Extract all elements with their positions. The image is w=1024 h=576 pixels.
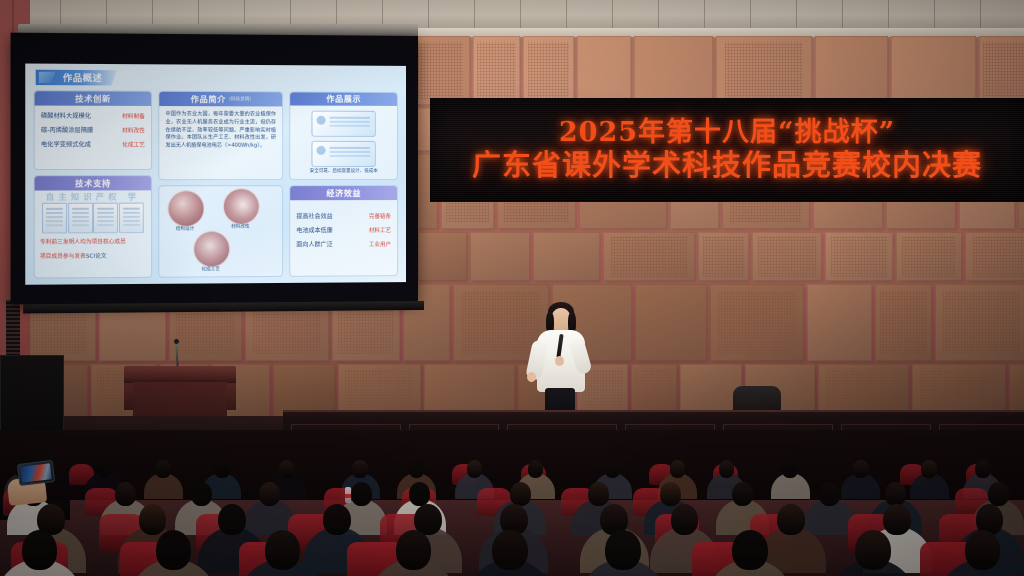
audience-head: [214, 460, 230, 478]
kv-row: 电池成本低廉 材料工艺: [296, 225, 391, 234]
audience-head: [351, 482, 372, 506]
document-thumbnails: 自主知识产权 学术论文: [40, 201, 146, 234]
ceiling-tile-line: [428, 0, 429, 30]
acoustic-panel: [710, 284, 804, 361]
acoustic-panel: [523, 36, 574, 105]
audience-head: [965, 530, 1000, 570]
water-bottle: [345, 487, 351, 503]
audience-head: [885, 482, 906, 506]
ceiling-tile-line: [658, 0, 659, 30]
card-process-photos: 结构设计 材料改性 化成工艺: [158, 185, 283, 278]
audience-head: [975, 460, 991, 478]
ceiling-tile-line: [888, 0, 889, 30]
audience-head: [22, 530, 57, 570]
product-shot: [311, 110, 375, 136]
audience-head: [588, 482, 609, 506]
kv-key: 电池成本低廉: [296, 225, 332, 234]
acoustic-panel: [935, 284, 1024, 361]
audience-head: [265, 530, 300, 570]
microphone-head-icon: [174, 339, 179, 344]
audience-head: [732, 482, 753, 506]
circle-photo: [223, 188, 260, 224]
audience-head: [528, 460, 544, 478]
circle-photo: [193, 231, 230, 268]
card-body: 中国作为农业大国，每年需要大量的农业植保作业，农业无人机服务农业成为行业主流，但…: [159, 106, 282, 179]
ceiling-tile-line: [842, 0, 843, 30]
audience-head: [988, 482, 1009, 506]
kv-value: 材料工艺: [369, 226, 391, 234]
audience-head: [492, 530, 527, 570]
paper-note-red: 项目成员参与发表: [40, 254, 86, 260]
audience-head: [139, 504, 167, 535]
ceiling-tile-line: [520, 0, 521, 30]
audience-head: [855, 530, 890, 570]
acoustic-panel: [634, 36, 713, 105]
audience-head: [218, 504, 246, 535]
audience-head: [819, 482, 840, 506]
intro-paragraph: 中国作为农业大国，每年需要大量的农业植保作业，农业无人机服务农业成为行业主流，但…: [165, 111, 275, 150]
kv-value: 化成工艺: [122, 140, 145, 148]
acoustic-panel: [965, 232, 1024, 281]
slide-columns: 技术创新 磷酸材料大规模化 材料制备 碳-丙烯酸涂层隔膜 材料改性: [34, 90, 398, 278]
ceiling-tile-line: [750, 0, 751, 30]
audience-head: [660, 482, 681, 506]
kv-key: 碳-丙烯酸涂层隔膜: [41, 125, 93, 134]
card-subtitle: (科技发明): [229, 96, 251, 102]
audience-head: [259, 482, 280, 506]
kv-key: 提高社会效益: [296, 211, 332, 220]
projection-screen: 作品概述 技术创新 磷酸材料大规模化 材料制备: [11, 33, 418, 305]
acoustic-panel: [698, 232, 749, 281]
acoustic-panel: [979, 36, 1024, 105]
ceiling-tile-line: [474, 0, 475, 30]
acoustic-panel: [716, 36, 812, 105]
acoustic-panel: [577, 36, 631, 105]
card-title: 技术创新: [75, 93, 111, 104]
audience-head: [719, 460, 735, 478]
audience-head: [352, 460, 368, 478]
led-banner-text: 2025年第十八届“挑战杯” 广东省课外学术科技作品竞赛校内决赛: [430, 98, 1024, 202]
card-title: 技术支持: [75, 178, 111, 189]
slide-tab-title: 作品概述: [63, 71, 103, 84]
kv-value: 材料制备: [122, 111, 145, 119]
card-header: 作品展示: [290, 92, 397, 105]
audience-head: [732, 530, 767, 570]
kv-row: 磷酸材料大规模化 材料制备: [41, 111, 145, 121]
audience-head: [279, 460, 295, 478]
kv-value: 材料改性: [122, 126, 145, 134]
podium-top: [124, 366, 236, 383]
audience-head: [155, 460, 171, 478]
audience-head: [115, 482, 136, 506]
card-header: 经济效益: [290, 186, 397, 200]
document-thumb: [119, 203, 144, 234]
audience-head: [671, 504, 699, 535]
audience-head: [777, 504, 805, 535]
circle-photo-label: 材料改性: [216, 224, 265, 230]
audience-head: [323, 504, 351, 535]
card-title: 经济效益: [326, 188, 361, 199]
audience-head: [853, 460, 869, 478]
audience-head: [156, 530, 191, 570]
ceiling-tile-line: [704, 0, 705, 30]
audience-head: [670, 460, 686, 478]
card-work-introduction: 作品简介 (科技发明) 中国作为农业大国，每年需要大量的农业植保作业，农业无人机…: [158, 91, 283, 180]
audience-head: [883, 504, 911, 535]
slide-column-1: 技术创新 磷酸材料大规模化 材料制备 碳-丙烯酸涂层隔膜 材料改性: [34, 90, 152, 278]
card-technical-innovation: 技术创新 磷酸材料大规模化 材料制备 碳-丙烯酸涂层隔膜 材料改性: [34, 90, 152, 170]
acoustic-panel: [470, 232, 530, 281]
acoustic-panel: [807, 284, 872, 361]
acoustic-panel: [473, 36, 520, 105]
acoustic-panel: [603, 232, 695, 281]
led-line-1: 2025年第十八届“挑战杯”: [559, 118, 895, 148]
audience-head: [605, 460, 621, 478]
acoustic-panel: [875, 284, 932, 361]
acoustic-panel: [635, 284, 707, 361]
slide-column-3: 作品展示 安全可靠、后续容量设计、低成本 经济效益: [289, 91, 398, 276]
paper-note-blue: SCI论文: [86, 253, 107, 259]
folder-fold-icon: [39, 72, 56, 83]
acoustic-panel: [891, 36, 976, 105]
kv-row: 提高社会效益 完善链条: [296, 211, 391, 220]
slide-column-2: 作品简介 (科技发明) 中国作为农业大国，每年需要大量的农业植保作业，农业无人机…: [158, 91, 283, 278]
presenter-hand-left: [527, 372, 536, 382]
card-header: 技术支持: [35, 176, 151, 190]
card-body: 提高社会效益 完善链条 电池成本低廉 材料工艺 面向人群广泛 工业用户: [290, 200, 397, 276]
card-body: 磷酸材料大规模化 材料制备 碳-丙烯酸涂层隔膜 材料改性 电化学变频式化成 化成…: [35, 106, 151, 169]
led-line-2: 广东省课外学术科技作品竞赛校内决赛: [472, 149, 982, 181]
document-thumb: [68, 203, 93, 234]
audience-head: [96, 460, 112, 478]
led-banner: 2025年第十八届“挑战杯” 广东省课外学术科技作品竞赛校内决赛: [430, 98, 1024, 202]
audience-head: [510, 482, 531, 506]
slide-tab: 作品概述: [36, 70, 117, 86]
audience-head: [396, 530, 431, 570]
card-technical-support: 技术支持 自主知识产权 学术论文 专利前三发明人均为项目核心成员: [34, 175, 152, 278]
acoustic-panel: [752, 232, 822, 281]
card-title: 作品简介: [191, 93, 226, 104]
kv-row: 面向人群广泛 工业用户: [296, 239, 391, 248]
audience-area: [0, 430, 1024, 576]
presentation-slide: 作品概述 技术创新 磷酸材料大规模化 材料制备: [25, 63, 406, 284]
card-title: 作品展示: [326, 93, 361, 104]
ceiling-tile-line: [566, 0, 567, 30]
patent-note-red: 专利前三发明人均为项目核心成员: [40, 238, 146, 247]
product-shot-group: [290, 105, 397, 166]
kv-value: 工业用户: [369, 240, 391, 248]
document-thumb: [93, 203, 118, 234]
presenter: [525, 300, 597, 422]
card-economic-benefit: 经济效益 提高社会效益 完善链条 电池成本低廉 材料工艺: [289, 185, 398, 277]
kv-value: 完善链条: [369, 212, 391, 220]
audience-head: [191, 482, 212, 506]
kv-key: 面向人群广泛: [296, 239, 332, 248]
circle-photo-label: 结构设计: [160, 226, 209, 232]
audience-head: [409, 482, 430, 506]
card-body: 自主知识产权 学术论文 专利前三发明人均为项目核心成员 项目成员参与发表SCI论…: [35, 190, 151, 277]
kv-key: 电化学变频式化成: [41, 139, 91, 148]
audience-head: [605, 530, 640, 570]
phone-screen: [20, 463, 52, 483]
audience-head: [921, 460, 937, 478]
audience-head: [409, 460, 425, 478]
ceiling-tile-line: [612, 0, 613, 30]
circle-photo-group: 结构设计 材料改性 化成工艺: [159, 186, 282, 277]
ceiling-tile-line: [796, 0, 797, 30]
document-thumb: [42, 203, 67, 234]
acoustic-panel: [533, 232, 600, 281]
kv-row: 电化学变频式化成 化成工艺: [41, 139, 145, 148]
auditorium-scene: 作品概述 技术创新 磷酸材料大规模化 材料制备: [0, 0, 1024, 576]
kv-row: 碳-丙烯酸涂层隔膜 材料改性: [41, 125, 145, 134]
audience-phone-recording: [17, 460, 55, 486]
product-shot: [311, 141, 375, 167]
acoustic-panel: [825, 232, 893, 281]
paper-note: 项目成员参与发表SCI论文: [40, 252, 146, 262]
ceiling-tile-line: [980, 0, 981, 30]
audience-head: [782, 460, 798, 478]
circle-photo: [168, 190, 205, 227]
card-work-display: 作品展示 安全可靠、后续容量设计、低成本: [289, 91, 398, 180]
ceiling-tile-line: [934, 0, 935, 30]
acoustic-panel: [815, 36, 888, 105]
kv-key: 磷酸材料大规模化: [41, 111, 91, 120]
acoustic-panel: [418, 232, 467, 281]
audience-head: [467, 460, 483, 478]
presenter-hand-right: [555, 356, 564, 366]
product-caption: 安全可靠、后续容量设计、低成本: [290, 167, 397, 179]
card-header: 技术创新: [35, 91, 151, 106]
acoustic-panel: [896, 232, 962, 281]
circle-photo-label: 化成工艺: [186, 266, 235, 272]
card-header: 作品简介 (科技发明): [159, 92, 282, 107]
